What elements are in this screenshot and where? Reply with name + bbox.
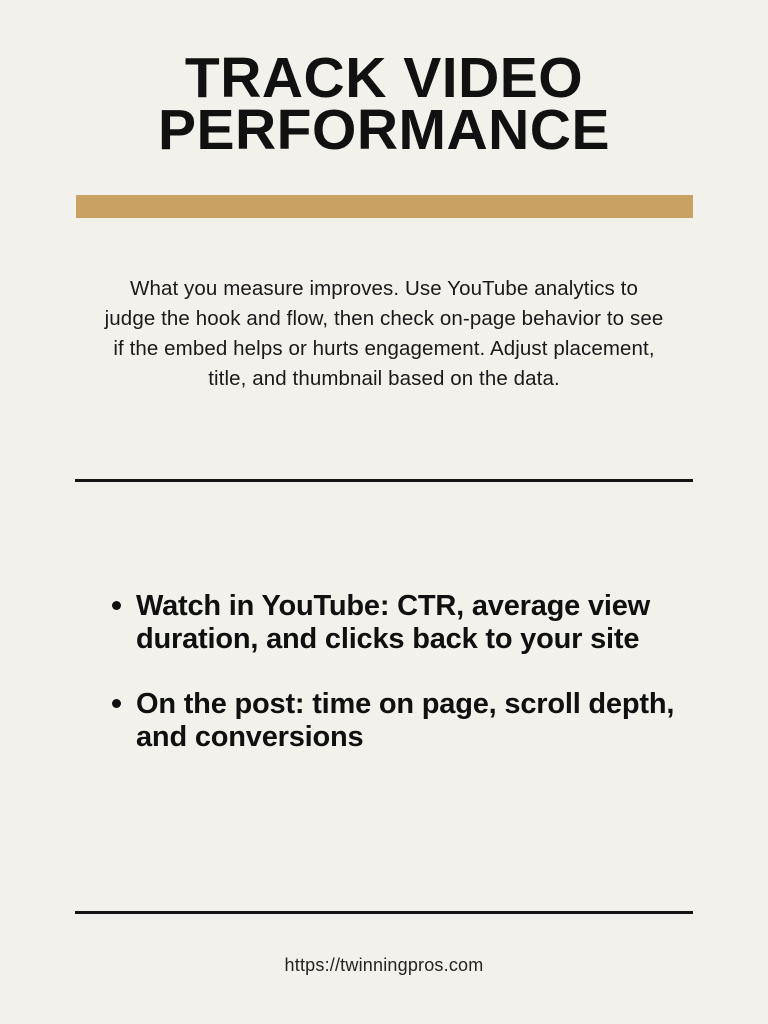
title-line-1: TRACK VIDEO xyxy=(0,52,768,104)
footer-website-url[interactable]: https://twinningpros.com xyxy=(285,955,484,975)
divider-bottom xyxy=(75,911,693,914)
list-item: Watch in YouTube: CTR, average view dura… xyxy=(110,590,680,656)
bullet-dot-icon xyxy=(112,601,121,610)
footer: https://twinningpros.com xyxy=(0,955,768,976)
intro-paragraph-block: What you measure improves. Use YouTube a… xyxy=(104,274,664,394)
page-title: TRACK VIDEO PERFORMANCE xyxy=(0,52,768,156)
intro-paragraph: What you measure improves. Use YouTube a… xyxy=(104,274,664,394)
bullet-dot-icon xyxy=(112,699,121,708)
slide-canvas: TRACK VIDEO PERFORMANCE What you measure… xyxy=(0,0,768,1024)
bullet-list: Watch in YouTube: CTR, average view dura… xyxy=(110,590,680,754)
list-item-text: On the post: time on page, scroll depth,… xyxy=(136,688,674,753)
accent-bar xyxy=(76,195,693,218)
list-item-text: Watch in YouTube: CTR, average view dura… xyxy=(136,590,650,655)
title-line-2: PERFORMANCE xyxy=(0,104,768,156)
divider-top xyxy=(75,479,693,482)
list-item: On the post: time on page, scroll depth,… xyxy=(110,688,680,754)
